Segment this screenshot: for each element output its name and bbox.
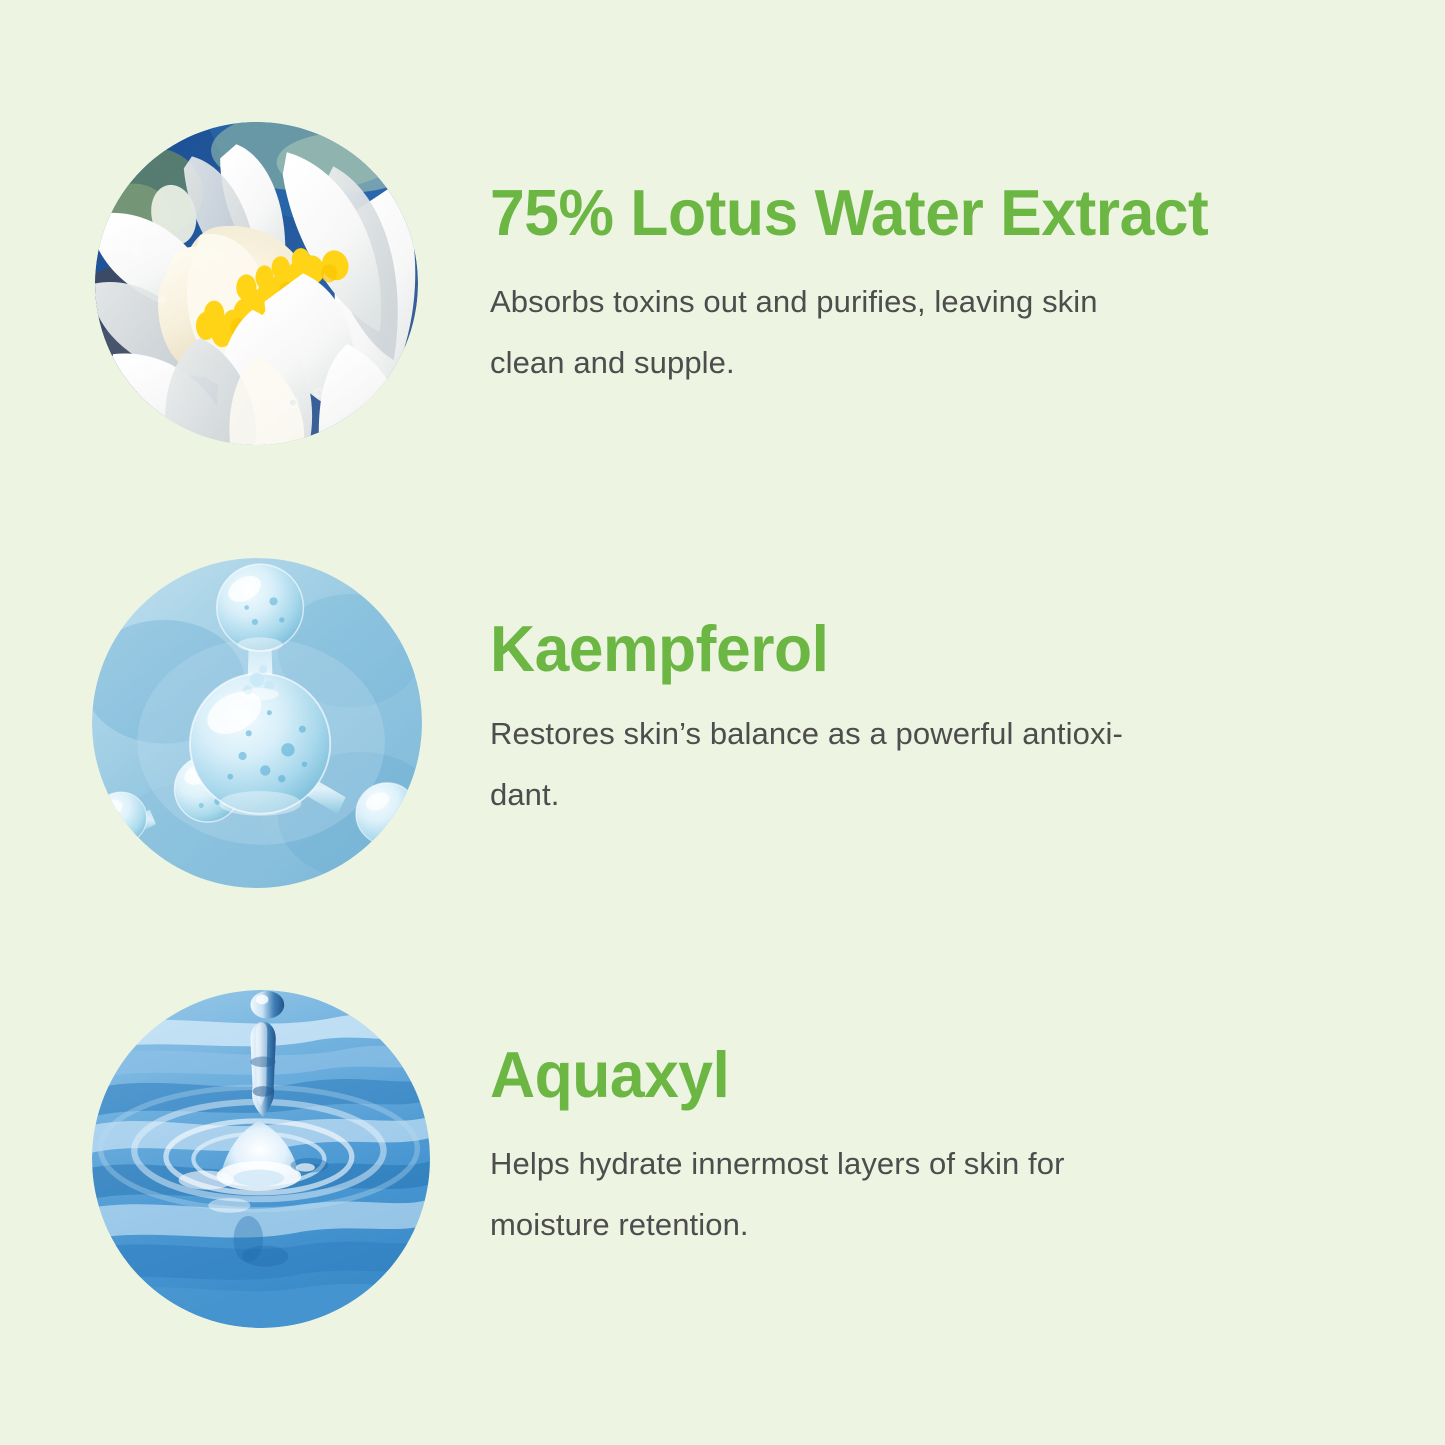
description-line: dant. — [490, 765, 1280, 825]
ingredient-title: Aquaxyl — [490, 1042, 1354, 1108]
ingredient-title: 75% Lotus Water Extract — [490, 180, 1354, 246]
ingredient-title: Kaempferol — [490, 616, 1354, 682]
ingredient-infographic: 75% Lotus Water Extract Absorbs toxins o… — [0, 0, 1445, 1445]
ingredient-description: Absorbs toxins out and purifies, leaving… — [490, 272, 1250, 393]
description-line: clean and supple. — [490, 333, 1250, 393]
ingredient-text-aquaxyl: Aquaxyl Helps hydrate innermost layers o… — [490, 1042, 1390, 1255]
ingredient-description: Restores skin’s balance as a powerful an… — [490, 704, 1280, 825]
description-line: moisture retention. — [490, 1195, 1230, 1255]
molecule-render — [92, 558, 422, 888]
lotus-flower-photo — [95, 122, 418, 445]
description-line: Restores skin’s balance as a powerful an… — [490, 704, 1280, 764]
ingredient-text-kaempferol: Kaempferol Restores skin’s balance as a … — [490, 616, 1390, 825]
water-droplet-splash-photo — [92, 990, 430, 1328]
description-line: Absorbs toxins out and purifies, leaving… — [490, 272, 1250, 332]
ingredient-text-lotus-water-extract: 75% Lotus Water Extract Absorbs toxins o… — [490, 180, 1390, 393]
description-line: Helps hydrate innermost layers of skin f… — [490, 1134, 1230, 1194]
ingredient-description: Helps hydrate innermost layers of skin f… — [490, 1134, 1230, 1255]
